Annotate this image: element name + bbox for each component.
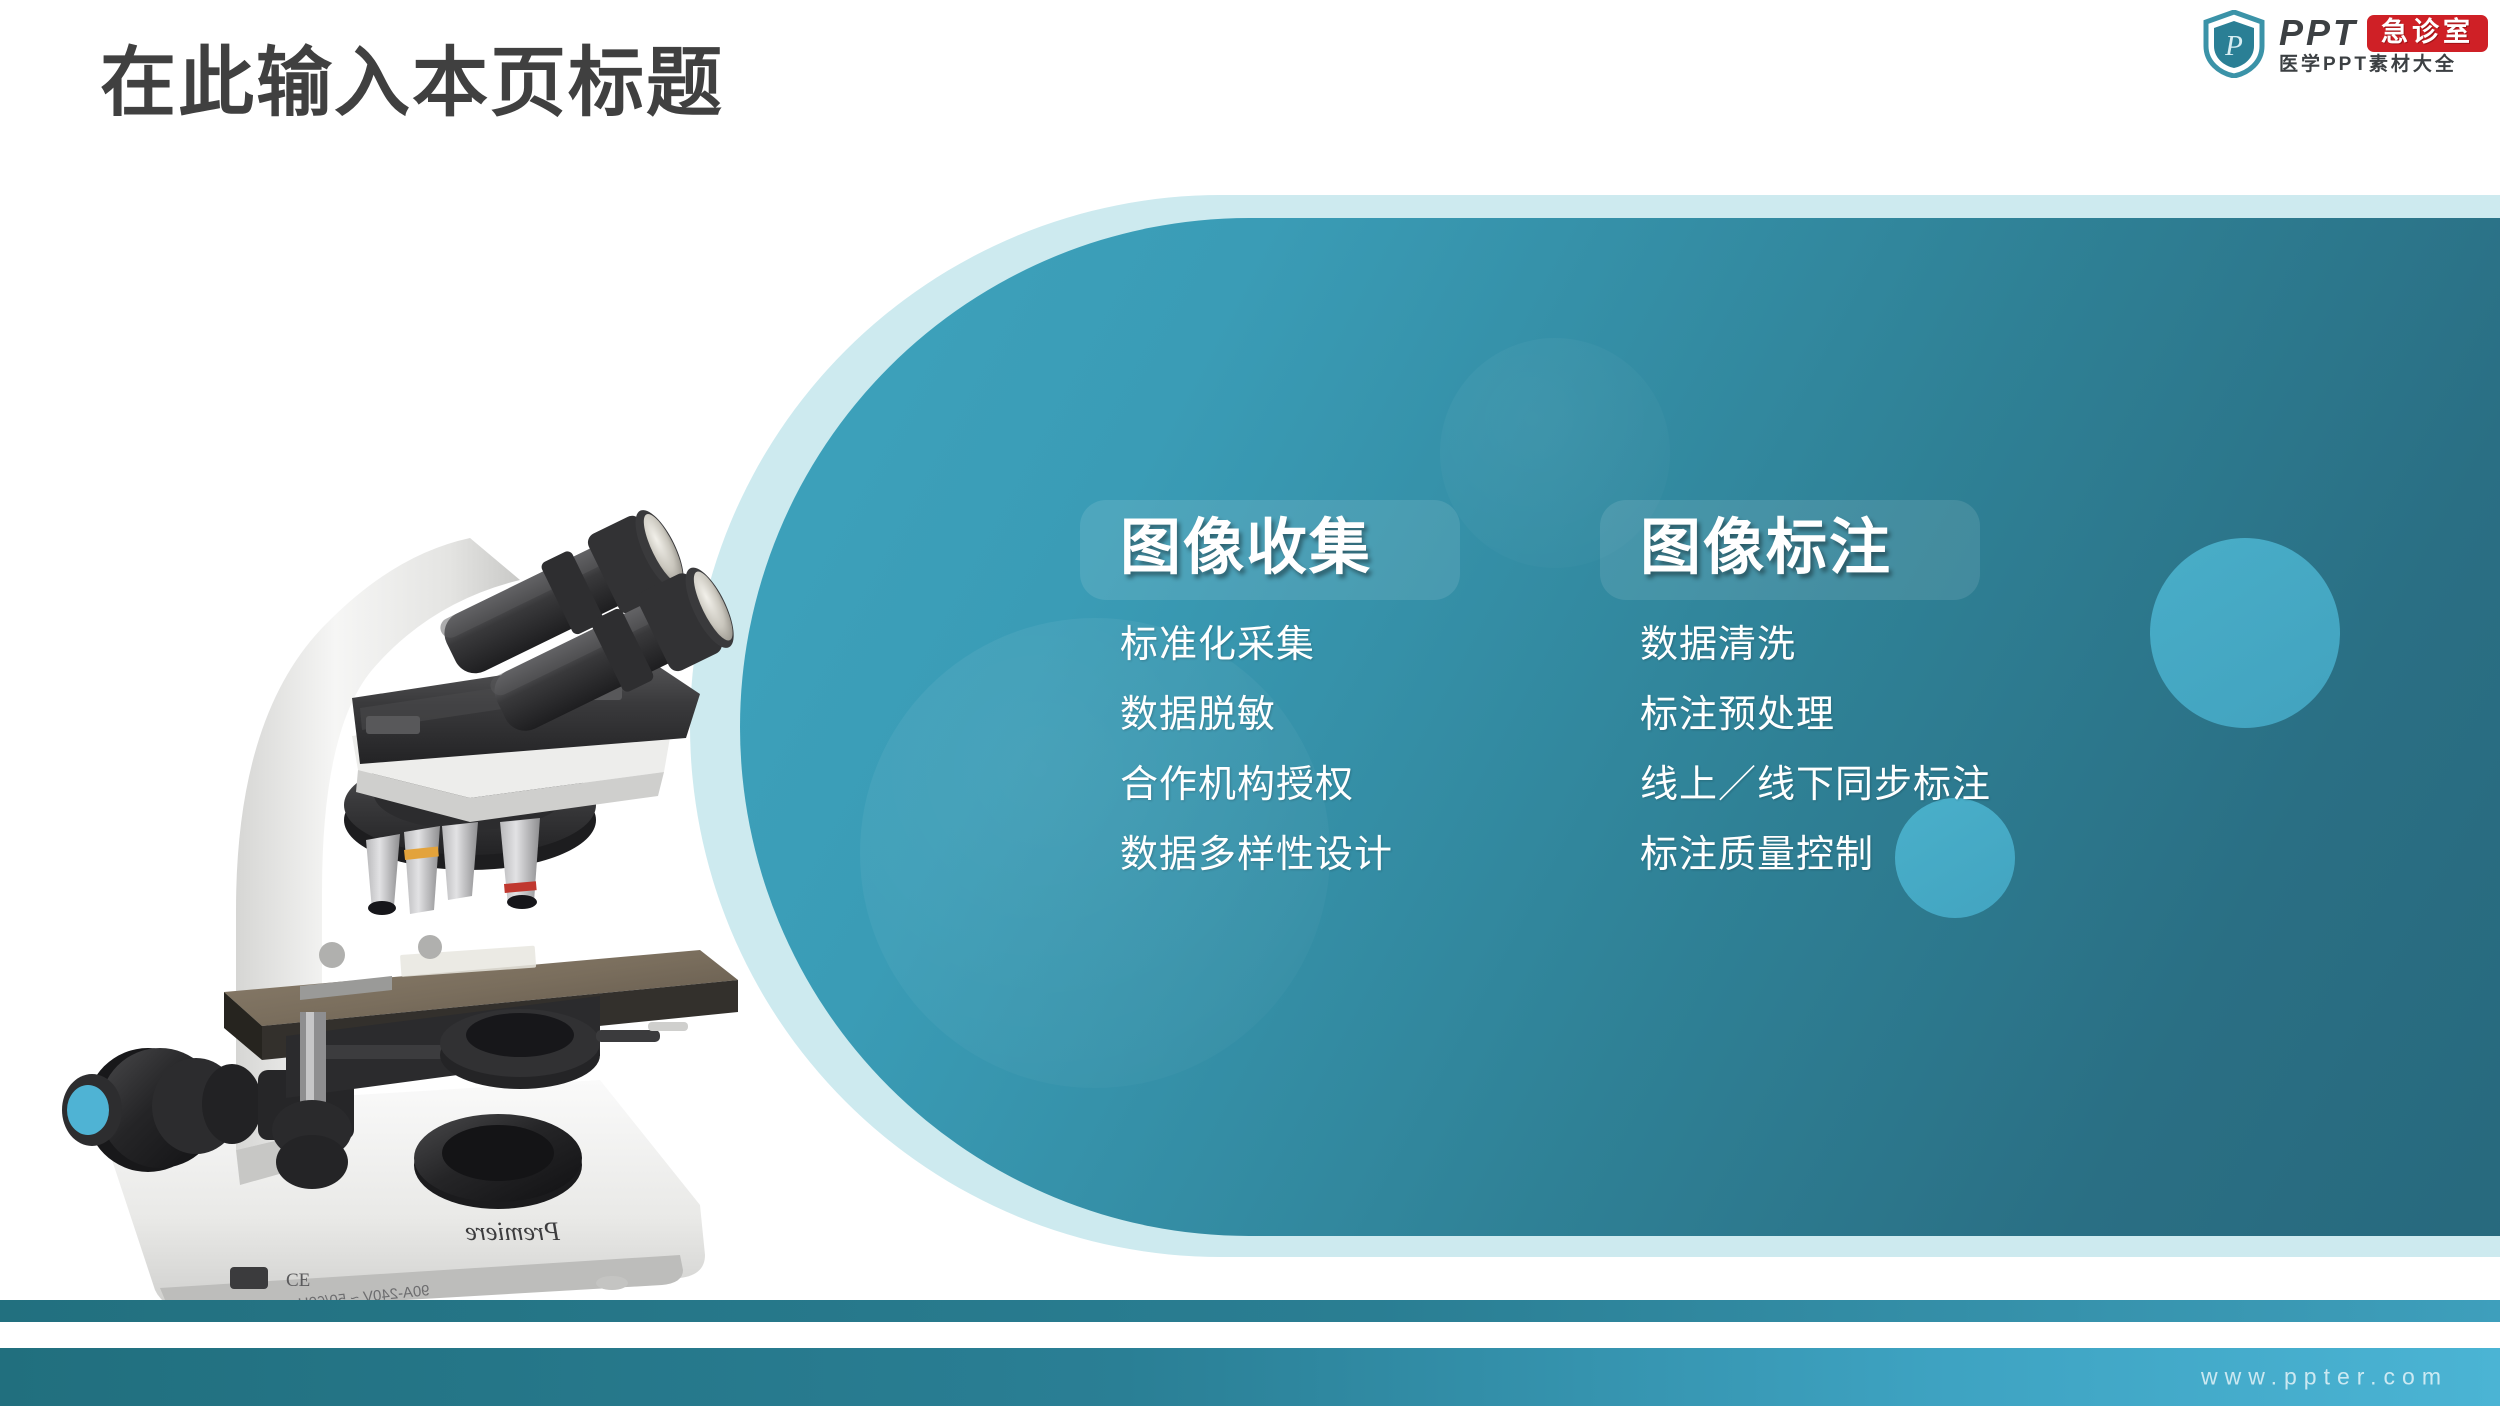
- logo-brand-text: PPT: [2279, 15, 2358, 51]
- list-item: 标准化采集: [1120, 626, 1520, 664]
- column-heading-wrap: 图像标注: [1640, 500, 2040, 608]
- logo-tagline: 医学PPT素材大全: [2279, 55, 2488, 74]
- column-heading: 图像标注: [1640, 508, 1892, 587]
- content-columns: 图像收集 标准化采集 数据脱敏 合作机构授权 数据多样性设计 图像标注 数据清洗…: [1120, 500, 2040, 906]
- list-item: 标注质量控制: [1640, 836, 2040, 874]
- list-item: 合作机构授权: [1120, 766, 1520, 804]
- list-item: 线上／线下同步标注: [1640, 766, 2040, 804]
- svg-text:P: P: [2224, 30, 2243, 62]
- microscope-image: Premiere 90A-240V ~ 50/60Hz CE: [0, 150, 760, 1330]
- list-item: 数据多样性设计: [1120, 836, 1520, 874]
- svg-text:CE: CE: [286, 1270, 310, 1291]
- svg-text:Premiere: Premiere: [465, 1217, 561, 1246]
- footer-bar: www.ppter.com: [0, 1348, 2500, 1406]
- page-title: 在此输入本页标题: [100, 40, 724, 127]
- column-image-annotation: 图像标注 数据清洗 标注预处理 线上／线下同步标注 标注质量控制: [1640, 500, 2040, 906]
- footer-stripe: [0, 1300, 2500, 1322]
- list-item: 数据脱敏: [1120, 696, 1520, 734]
- content-panel: 图像收集 标准化采集 数据脱敏 合作机构授权 数据多样性设计 图像标注 数据清洗…: [740, 218, 2500, 1236]
- column-list: 标准化采集 数据脱敏 合作机构授权 数据多样性设计: [1120, 626, 1520, 874]
- column-image-collection: 图像收集 标准化采集 数据脱敏 合作机构授权 数据多样性设计: [1120, 500, 1520, 906]
- decorative-circle-light-right: [2150, 538, 2340, 728]
- list-item: 标注预处理: [1640, 696, 2040, 734]
- shield-icon: P: [2203, 10, 2265, 78]
- list-item: 数据清洗: [1640, 626, 2040, 664]
- logo-badge-text: 急诊室: [2367, 15, 2488, 52]
- brand-logo: P PPT 急诊室 医学PPT素材大全: [2203, 8, 2488, 80]
- column-heading: 图像收集: [1120, 508, 1372, 587]
- footer-url: www.ppter.com: [2201, 1364, 2448, 1391]
- column-list: 数据清洗 标注预处理 线上／线下同步标注 标注质量控制: [1640, 626, 2040, 874]
- slide-canvas: 在此输入本页标题 P PPT 急诊室 医学PPT素材大全: [0, 0, 2500, 1406]
- logo-text: PPT 急诊室 医学PPT素材大全: [2279, 15, 2488, 74]
- column-heading-wrap: 图像收集: [1120, 500, 1520, 608]
